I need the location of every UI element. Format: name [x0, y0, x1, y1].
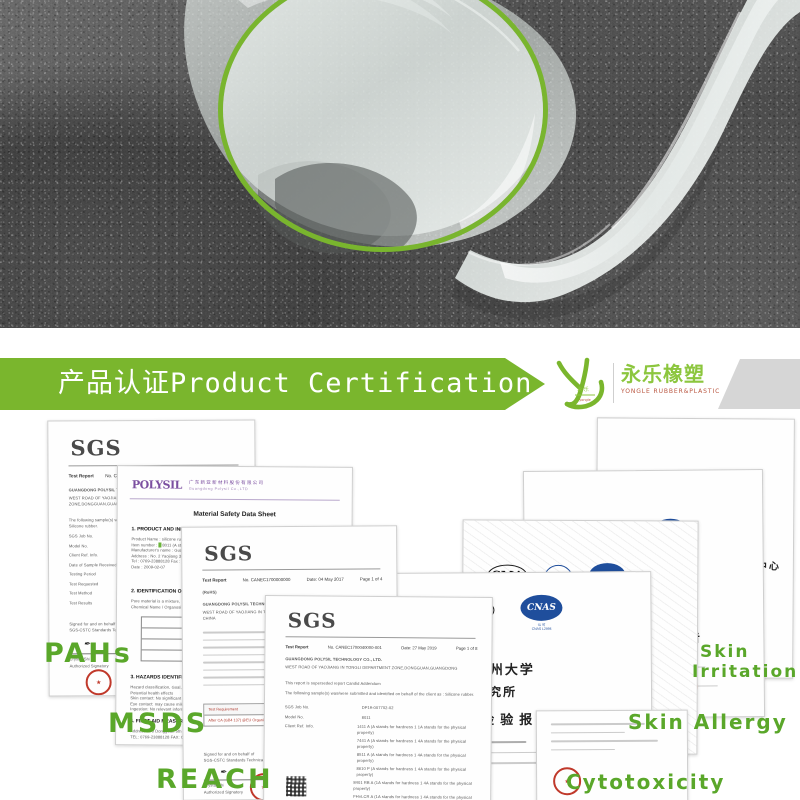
- sgs-no-3: No. CANEC1700040000-001: [328, 645, 382, 650]
- sgs-page-2: Page 1 of 4: [360, 576, 383, 581]
- certification-section: 产品认证Product Certification 永 乐 yongle 永乐橡…: [0, 328, 800, 800]
- highlight-circle: [218, 0, 548, 252]
- label-skin-allergy: Skin Allergy: [628, 710, 788, 734]
- label-cytotoxicity: Cytotoxicity: [566, 770, 725, 794]
- sgs-note-3: This report is superseded report Candid …: [285, 680, 477, 687]
- sgs-wordmark-1: SGS: [70, 435, 121, 460]
- certificate-sgs-3[interactable]: SGS Test Report No. CANEC1700040000-001 …: [263, 595, 493, 800]
- label-skin-irritation-line2: Irritation: [692, 662, 798, 682]
- msds-company-cn: 广东新亚新材料股份有限公司: [189, 480, 264, 487]
- brand-logo: 永 乐 yongle 永乐橡塑 YONGLE RUBBER&PLASTIC: [553, 355, 713, 413]
- sgs-wordmark-3: SGS: [288, 608, 337, 632]
- brand-divider: [613, 363, 614, 403]
- page-title: 产品认证Product Certification: [58, 358, 532, 410]
- msds-doc-title: Material Safety Data Sheet: [118, 510, 352, 519]
- sgs-signed-for-1: Signed for and on behalf of: [69, 621, 120, 627]
- sgs-address-3: WEST ROAD OF YAOJIANG IN TONGLI DEPARTME…: [285, 664, 477, 671]
- sgs-no-2: No. CANEC1700000000: [243, 577, 291, 582]
- msds-company-en: Guangdong Polysil Co.,LTD: [189, 487, 264, 492]
- sgs-date-2: Date: 04 May 2017: [307, 577, 344, 582]
- sgs-wordmark-2: SGS: [204, 541, 253, 565]
- polysil-wordmark: POLYSIL: [132, 478, 182, 491]
- label-msds: MSDS: [108, 708, 208, 739]
- sgs-subtitle-2: (RoHS): [202, 590, 216, 596]
- sgs-page-3: Page 1 of 8: [456, 646, 477, 651]
- brand-name-en: YONGLE RUBBER&PLASTIC: [621, 387, 720, 396]
- sgs-date-3: Date: 27 May 2019: [401, 645, 436, 650]
- product-certification-page: 产品认证Product Certification 永 乐 yongle 永乐橡…: [0, 0, 800, 800]
- cnas-code-4: CNAS L2994: [521, 627, 563, 631]
- label-reach: REACH: [156, 764, 274, 795]
- sgs-client-3: GUANGDONG POLYSIL TECHNOLOGY CO., LTD.: [285, 656, 477, 663]
- red-seal-sgs-1: ★: [86, 669, 112, 695]
- brand-name-cn: 永乐橡塑: [621, 363, 720, 385]
- certificates-collage: CMA 计量认证 2012000180 ilac-MRA CNAS 认 可 CN…: [0, 410, 800, 800]
- yongle-leaf-logo-icon: 永 乐 yongle: [553, 355, 609, 411]
- svg-text:永 乐: 永 乐: [577, 386, 589, 393]
- label-pahs: PAHs: [44, 638, 133, 669]
- sgs-intro-3: The following sample(s) was/were submitt…: [285, 690, 477, 697]
- highlight-circle-contents: [223, 0, 548, 252]
- label-skin-irritation-line1: Skin: [700, 642, 749, 662]
- product-photo: [0, 0, 800, 328]
- svg-text:yongle: yongle: [579, 398, 590, 402]
- sgs-doc-title-3: Test Report: [285, 644, 308, 649]
- banner-gray-parallelogram: [718, 359, 800, 409]
- sgs-doc-title-2: Test Report: [202, 577, 226, 582]
- qr-code-3: [286, 776, 306, 796]
- brand-text-block: 永乐橡塑 YONGLE RUBBER&PLASTIC: [621, 363, 720, 396]
- sgs-doc-title-1: Test Report: [69, 473, 94, 478]
